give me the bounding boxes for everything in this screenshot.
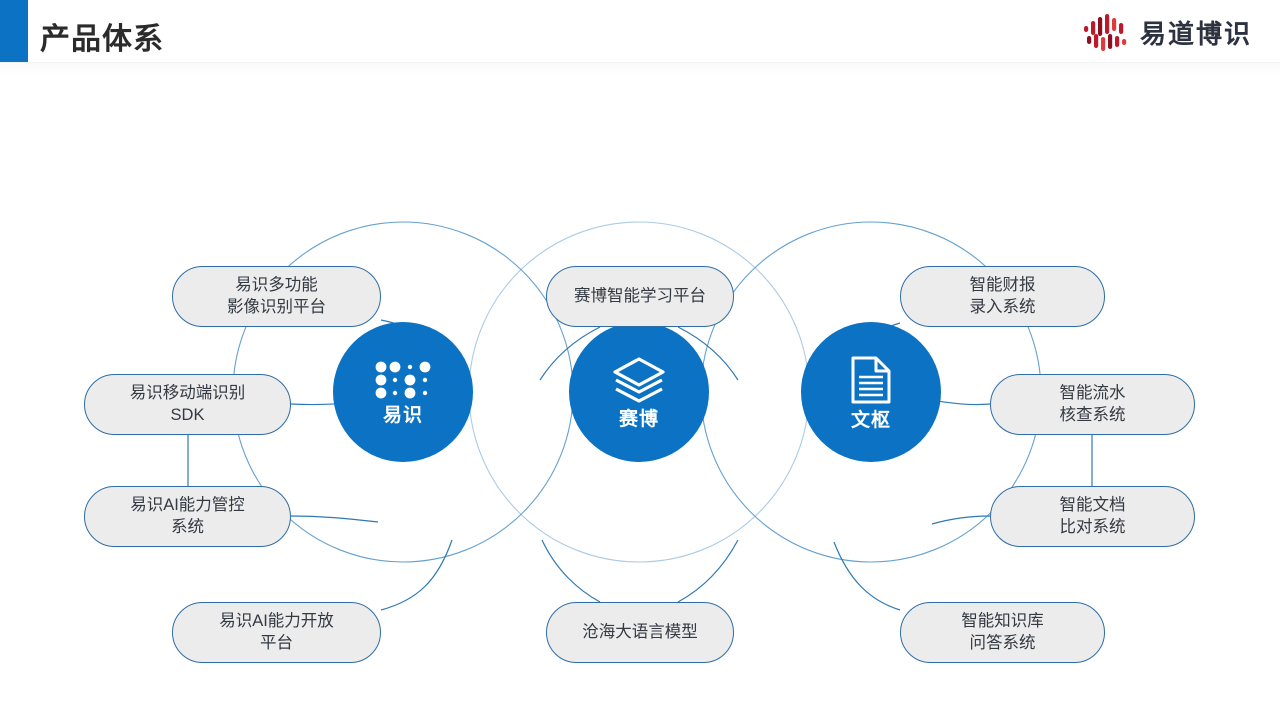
node-yishi[interactable]: 易识 <box>333 322 473 462</box>
node-wenshu-label: 文枢 <box>851 411 891 430</box>
dot-matrix-icon <box>374 360 432 400</box>
pill-financial-report-entry[interactable]: 智能财报 录入系统 <box>900 266 1105 327</box>
header-accent-bar <box>0 0 28 62</box>
layers-icon <box>611 356 667 404</box>
pill-yishi-mobile-sdk[interactable]: 易识移动端识别 SDK <box>84 374 291 435</box>
pill-saibo-learning-platform[interactable]: 赛博智能学习平台 <box>546 266 734 327</box>
pill-yishi-ai-control[interactable]: 易识AI能力管控 系统 <box>84 486 291 547</box>
brand-logo: 易道博识 <box>1082 12 1252 52</box>
page-title: 产品体系 <box>40 14 164 58</box>
node-saibo[interactable]: 赛博 <box>569 322 709 462</box>
product-system-diagram: 易识 赛博 文枢 易识多功能 影像识别平 <box>0 70 1280 720</box>
node-saibo-label: 赛博 <box>619 410 659 429</box>
pill-transaction-audit[interactable]: 智能流水 核查系统 <box>990 374 1195 435</box>
pill-document-compare[interactable]: 智能文档 比对系统 <box>990 486 1195 547</box>
pill-canghai-llm[interactable]: 沧海大语言模型 <box>546 602 734 663</box>
document-icon <box>850 355 892 405</box>
node-yishi-label: 易识 <box>383 406 423 425</box>
pill-knowledge-base-qa[interactable]: 智能知识库 问答系统 <box>900 602 1105 663</box>
page-header: 产品体系 易道博识 <box>0 0 1280 70</box>
pill-yishi-ai-open-platform[interactable]: 易识AI能力开放 平台 <box>172 602 381 663</box>
logo-wordmark: 易道博识 <box>1140 14 1252 51</box>
node-wenshu[interactable]: 文枢 <box>801 322 941 462</box>
pill-yishi-multifunction-imaging[interactable]: 易识多功能 影像识别平台 <box>172 266 381 327</box>
logo-mark-icon <box>1082 12 1130 52</box>
